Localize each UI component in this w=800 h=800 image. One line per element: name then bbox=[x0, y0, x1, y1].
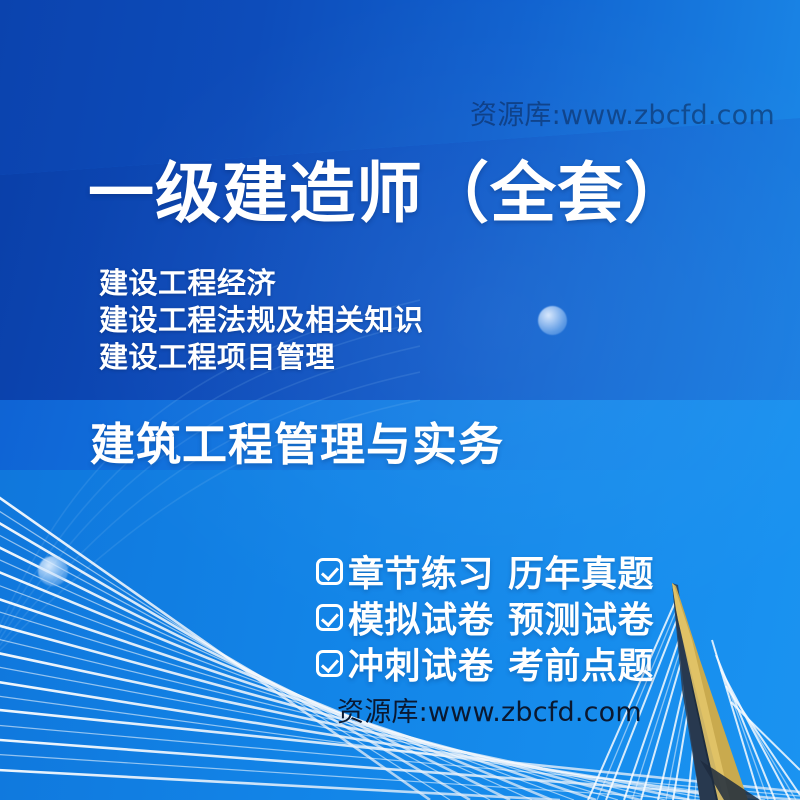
feature-2-right: 预测试卷 bbox=[508, 591, 654, 643]
subject-item-3: 建设工程项目管理 bbox=[99, 340, 424, 377]
page-title: 一级建造师（全套） bbox=[88, 160, 691, 226]
watermark-bottom: 资源库:www.zbcfd.com bbox=[337, 690, 642, 729]
poster-canvas: 资源库:www.zbcfd.com 一级建造师（全套） 建设工程经济 建设工程法… bbox=[0, 0, 800, 800]
feature-1-left: 章节练习 bbox=[348, 545, 494, 597]
feature-3-right: 考前点题 bbox=[508, 637, 654, 689]
subject-item-2: 建设工程法规及相关知识 bbox=[99, 303, 424, 340]
watermark-top: 资源库:www.zbcfd.com bbox=[470, 93, 775, 132]
feature-list: 章节练习 历年真题 模拟试卷 预测试卷 冲刺试卷 考前点题 bbox=[316, 548, 654, 686]
checkbox-checked-icon bbox=[316, 650, 343, 677]
feature-3-left: 冲刺试卷 bbox=[348, 637, 494, 689]
page-subtitle: 建筑工程管理与实务 bbox=[90, 408, 504, 473]
feature-row-2: 模拟试卷 预测试卷 bbox=[316, 594, 654, 640]
checkbox-checked-icon bbox=[316, 604, 343, 631]
feature-1-right: 历年真题 bbox=[508, 545, 654, 597]
checkbox-checked-icon bbox=[316, 558, 343, 585]
subject-list: 建设工程经济 建设工程法规及相关知识 建设工程项目管理 bbox=[99, 266, 424, 377]
feature-row-1: 章节练习 历年真题 bbox=[316, 548, 654, 594]
feature-row-3: 冲刺试卷 考前点题 bbox=[316, 640, 654, 686]
feature-2-left: 模拟试卷 bbox=[348, 591, 494, 643]
subject-item-1: 建设工程经济 bbox=[99, 266, 424, 303]
